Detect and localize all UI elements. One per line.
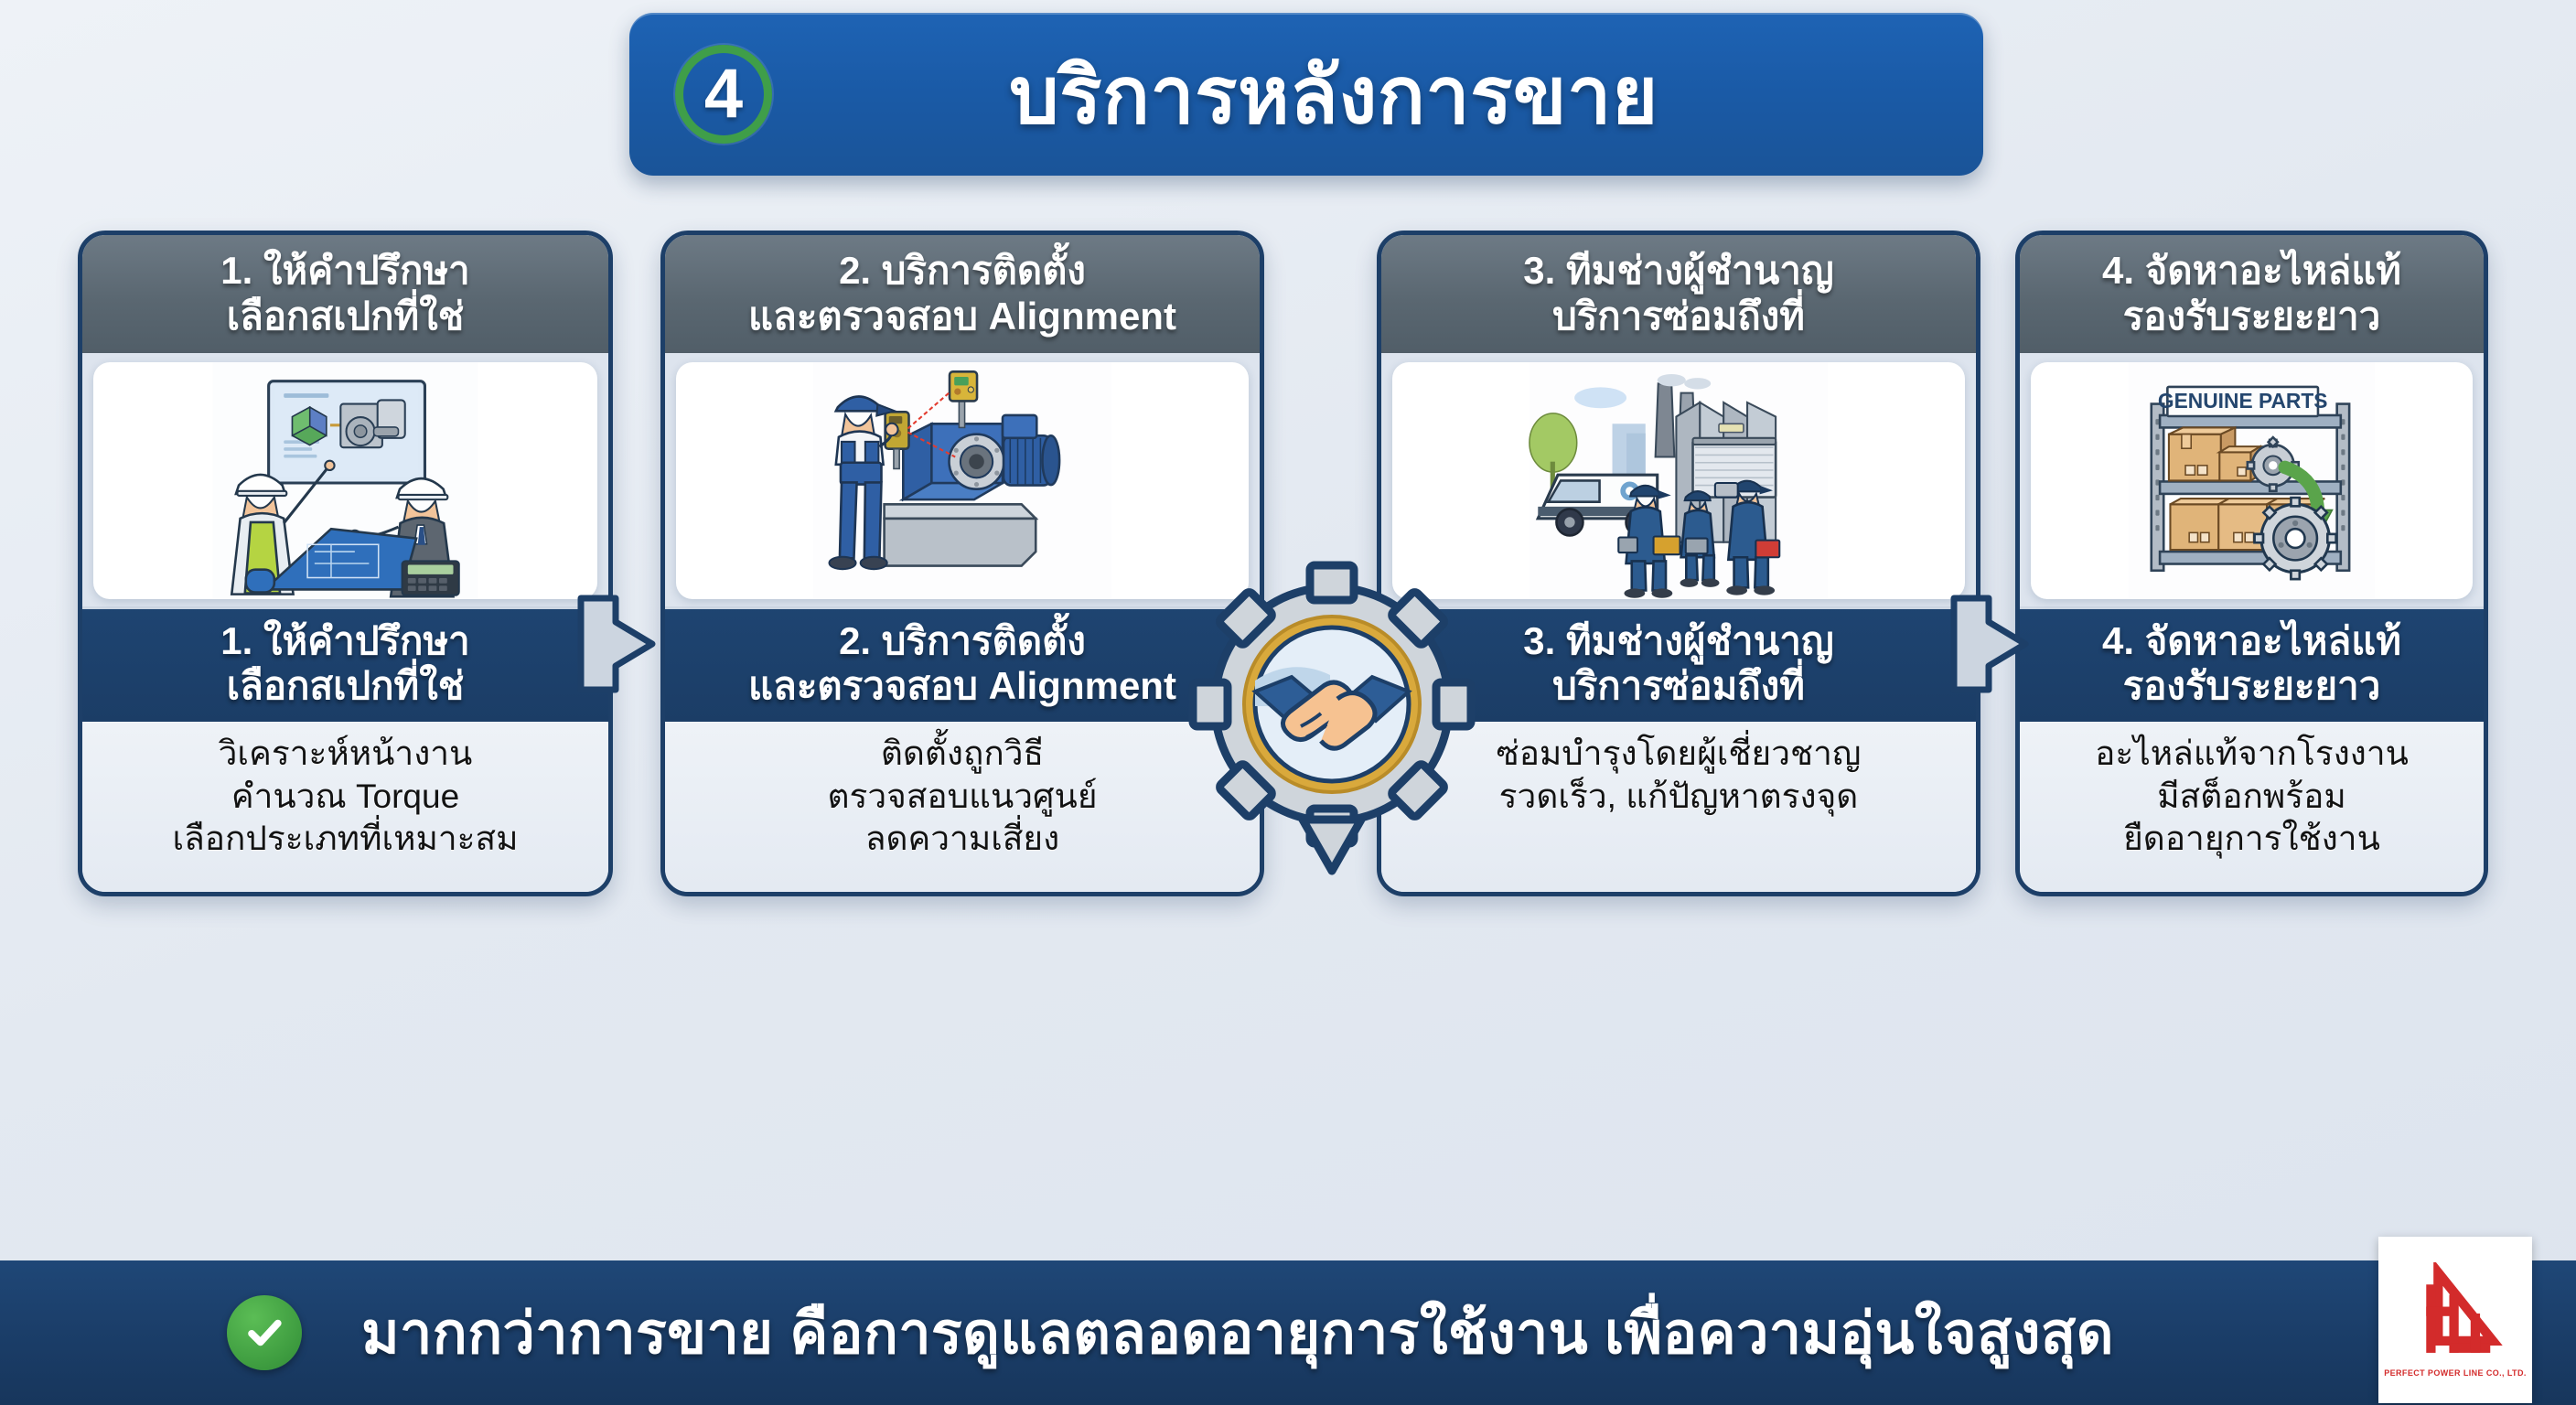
card-1-bottom-title: 1. ให้คำปรึกษา เลือกสเปกที่ใช่ — [82, 606, 608, 722]
card-3-top-title: 3. ทีมช่างผู้ชำนาญ บริการซ่อมถึงที่ — [1381, 235, 1976, 353]
header-banner: 4 บริการหลังการขาย — [629, 13, 1983, 176]
card-2-top-title: 2. บริการติดตั้ง และตรวจสอบ Alignment — [665, 235, 1260, 353]
card-4-image: GENUINE PARTS — [2031, 362, 2473, 599]
card-4-description: อะไหล่แท้จากโรงงาน มีสต็อกพร้อม ยืดอายุก… — [2020, 722, 2484, 892]
footer-banner: มากกว่าการขาย คือการดูแลตลอดอายุการใช้งา… — [0, 1260, 2576, 1405]
card-step-4[interactable]: 4. จัดหาอะไหล่แท้ รองรับระยะยาว — [2015, 231, 2488, 896]
arrow-card1-to-card2-icon — [575, 585, 660, 702]
page-title: บริการหลังการขาย — [629, 32, 1983, 157]
footer-tagline: มากกว่าการขาย คือการดูแลตลอดอายุการใช้งา… — [0, 1287, 2576, 1378]
arrow-card3-to-card4-icon — [1948, 585, 2033, 702]
step-number-badge: 4 — [675, 45, 772, 144]
company-name: PERFECT POWER LINE CO., LTD. — [2384, 1368, 2527, 1378]
ppl-logo-mark — [2404, 1262, 2506, 1365]
card-1-image — [93, 362, 597, 599]
gear-handshake-icon — [1164, 549, 1500, 885]
card-step-1[interactable]: 1. ให้คำปรึกษา เลือกสเปกที่ใช่ — [78, 231, 613, 896]
card-1-description: วิเคราะห์หน้างาน คำนวณ Torque เลือกประเภ… — [82, 722, 608, 892]
card-4-bottom-title: 4. จัดหาอะไหล่แท้ รองรับระยะยาว — [2020, 606, 2484, 722]
company-logo: PERFECT POWER LINE CO., LTD. — [2378, 1237, 2532, 1403]
step-number: 4 — [704, 59, 743, 129]
check-circle-icon — [227, 1295, 302, 1370]
genuine-parts-sign-text: GENUINE PARTS — [2158, 389, 2328, 413]
card-1-top-title: 1. ให้คำปรึกษา เลือกสเปกที่ใช่ — [82, 235, 608, 353]
card-4-top-title: 4. จัดหาอะไหล่แท้ รองรับระยะยาว — [2020, 235, 2484, 353]
